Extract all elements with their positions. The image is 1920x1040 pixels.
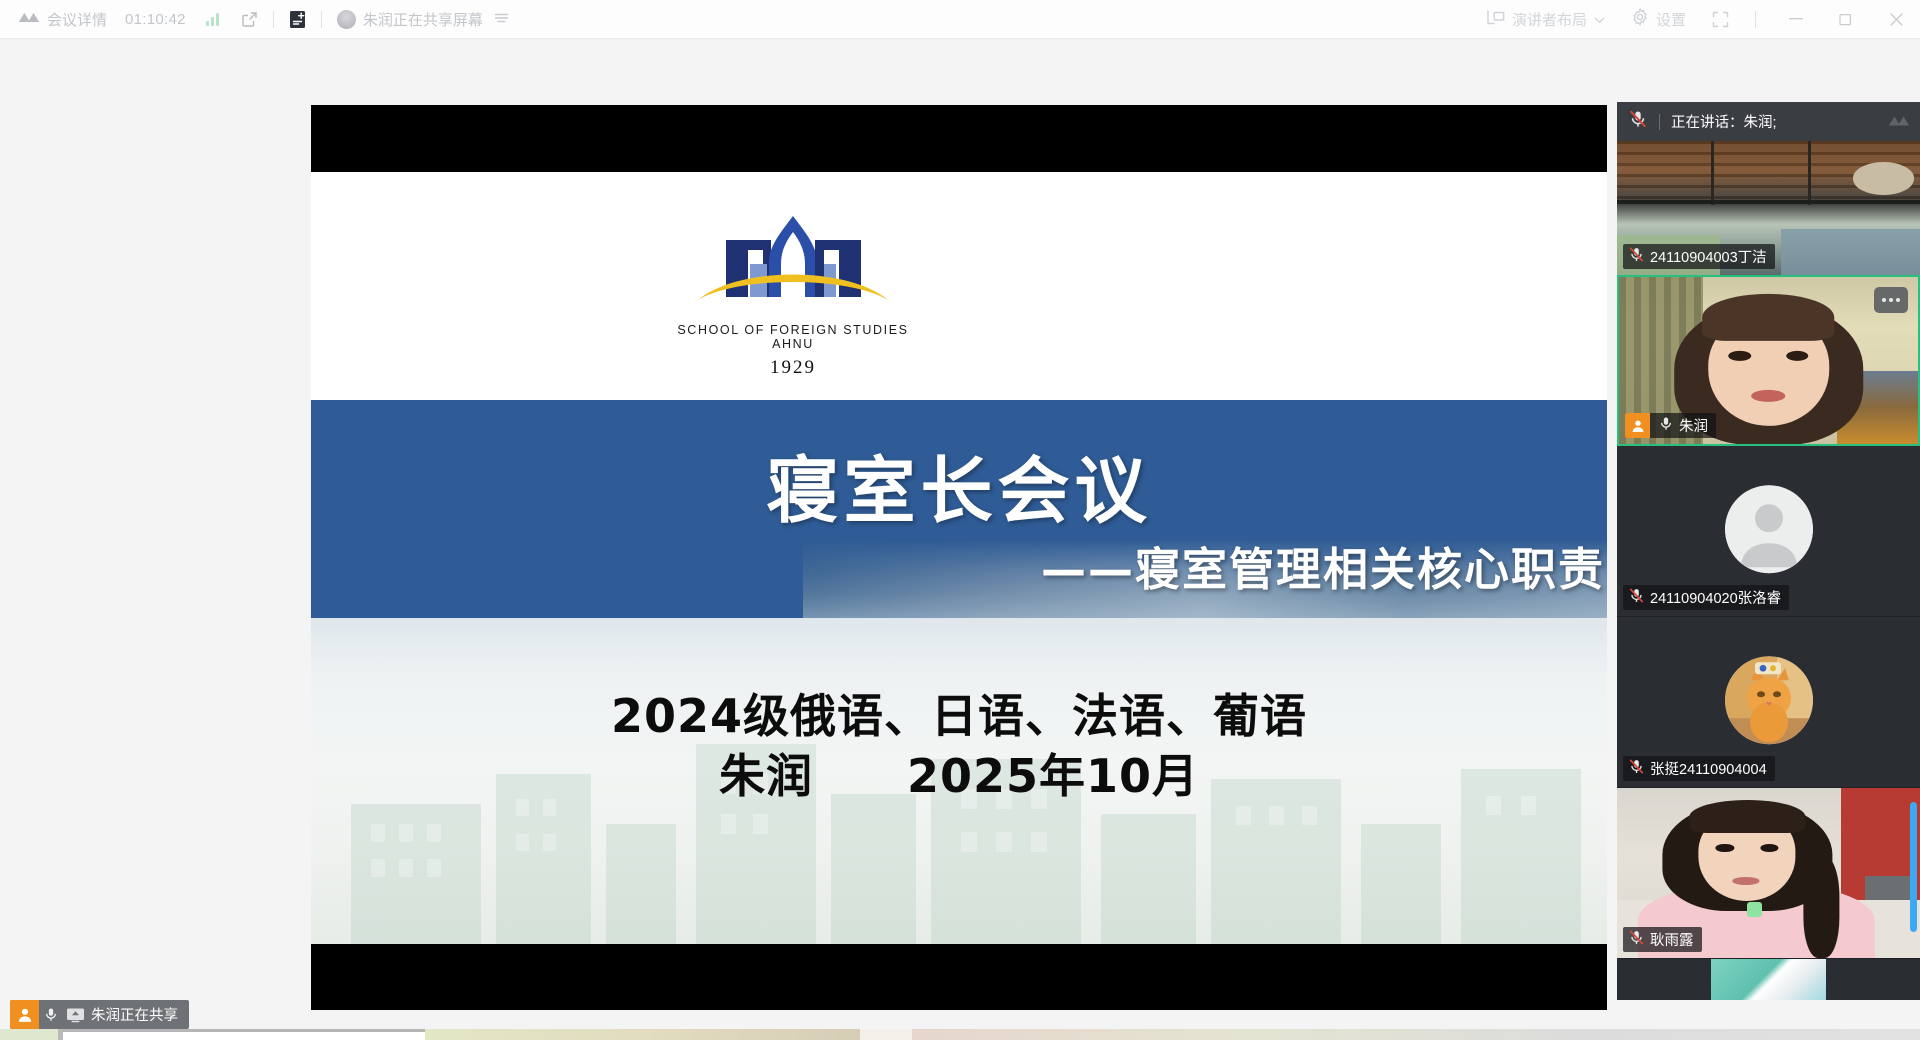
layout-selector[interactable]: 演讲者布局 <box>1487 9 1605 30</box>
settings-label: 设置 <box>1656 9 1686 30</box>
participant-namebar: 张挺24110904004 <box>1623 756 1775 781</box>
shared-slide[interactable]: SCHOOL OF FOREIGN STUDIES AHNU 1929 寝室长会… <box>311 105 1607 1010</box>
maximize-button[interactable] <box>1836 9 1856 29</box>
slide-line-1: 2024级俄语、日语、法语、葡语 <box>311 680 1607 746</box>
divider <box>273 11 274 28</box>
default-avatar <box>1725 485 1813 573</box>
slide-title: 寝室长会议 <box>311 432 1607 537</box>
meeting-timer: 01:10:42 <box>125 11 186 28</box>
window-titlebar: 会议详情 01:10:42 朱润正在共享屏幕 <box>0 0 1920 39</box>
participant-tile-active[interactable]: 朱润 <box>1617 275 1920 446</box>
layout-label: 演讲者布局 <box>1512 9 1587 30</box>
host-badge-icon <box>10 1000 39 1029</box>
slide-line-2: 朱润 2025年10月 <box>311 740 1607 806</box>
ahnu-logo: SCHOOL OF FOREIGN STUDIES AHNU 1929 <box>668 202 918 379</box>
external-link-icon[interactable] <box>241 11 258 28</box>
active-speaker-bar: 正在讲话：朱润; <box>1617 102 1920 141</box>
participant-namebar: 朱润 <box>1625 413 1716 438</box>
screen-share-icon <box>63 1000 87 1029</box>
meeting-details-button[interactable]: 会议详情 <box>18 9 107 30</box>
mic-muted-icon <box>1628 929 1645 951</box>
gear-icon <box>1631 8 1649 30</box>
divider <box>321 11 322 28</box>
active-speaker-label: 正在讲话：朱润; <box>1671 111 1777 132</box>
photo-avatar <box>1725 656 1813 744</box>
participant-namebar: 24110904020张洛睿 <box>1623 585 1789 610</box>
participant-tile[interactable]: 张挺24110904004 <box>1617 617 1920 787</box>
taskbar-segment <box>63 1029 425 1040</box>
panel-scrollbar[interactable] <box>1910 802 1917 932</box>
logo-caption: SCHOOL OF FOREIGN STUDIES AHNU <box>668 323 918 351</box>
slide-title-band: 寝室长会议 ——寝室管理相关核心职责 <box>311 400 1607 618</box>
fullscreen-button[interactable] <box>1712 11 1729 28</box>
participant-tile[interactable]: 24110904003丁洁 <box>1617 141 1920 275</box>
mic-muted-icon <box>1628 758 1645 780</box>
host-badge-icon <box>1625 413 1650 438</box>
taskbar-segment <box>912 1029 1920 1040</box>
mic-muted-icon <box>1628 246 1645 268</box>
participant-namebar: 24110904003丁洁 <box>1623 244 1775 269</box>
list-menu-icon[interactable] <box>494 11 509 28</box>
mic-muted-icon <box>1628 587 1645 609</box>
taskbar-segment <box>0 1029 58 1040</box>
taskbar-segment <box>425 1029 860 1040</box>
settings-button[interactable]: 设置 <box>1631 8 1686 30</box>
more-options-icon[interactable] <box>1874 287 1908 313</box>
video-feed <box>1617 959 1920 1000</box>
minimize-button[interactable] <box>1786 9 1806 29</box>
meeting-details-label: 会议详情 <box>47 9 107 30</box>
participant-name: 24110904020张洛睿 <box>1650 587 1781 608</box>
letterbox-bottom <box>311 944 1607 1010</box>
participant-avatar <box>337 10 356 29</box>
notes-document-icon[interactable] <box>289 10 306 29</box>
person-placeholder-icon <box>1725 485 1813 573</box>
sharing-status: 朱润正在共享屏幕 <box>337 9 509 30</box>
participant-namebar: 耿雨露 <box>1623 927 1702 952</box>
cat-avatar-icon <box>1725 656 1813 744</box>
os-taskbar <box>0 1029 1920 1040</box>
close-button[interactable] <box>1886 9 1906 29</box>
layout-icon <box>1487 9 1505 29</box>
mountain-logo-icon <box>18 10 40 28</box>
participant-tile[interactable]: 24110904020张洛睿 <box>1617 446 1920 616</box>
mic-on-icon <box>1658 415 1674 437</box>
slide-logo-area: SCHOOL OF FOREIGN STUDIES AHNU 1929 <box>311 172 1607 400</box>
taskbar-segment <box>860 1029 912 1040</box>
sharing-indicator-label: 朱润正在共享 <box>87 1004 189 1025</box>
ahnu-crest-icon <box>693 202 893 320</box>
participant-name: 24110904003丁洁 <box>1650 246 1767 267</box>
sharing-indicator: 朱润正在共享 <box>10 1000 189 1029</box>
slide-content: SCHOOL OF FOREIGN STUDIES AHNU 1929 寝室长会… <box>311 172 1607 944</box>
chevron-down-icon <box>1594 11 1605 28</box>
participant-tile-partial[interactable] <box>1617 959 1920 1000</box>
divider <box>1755 11 1756 28</box>
letterbox-top <box>311 105 1607 172</box>
participant-panel: 正在讲话：朱润; 24110904003 <box>1617 102 1920 1000</box>
participant-name: 朱润 <box>1679 415 1708 436</box>
slide-subtitle: ——寝室管理相关核心职责 <box>1041 533 1605 598</box>
participant-name: 张挺24110904004 <box>1650 758 1767 779</box>
signal-bars-icon[interactable] <box>206 12 219 26</box>
slide-lower-area: 2024级俄语、日语、法语、葡语 朱润 2025年10月 <box>311 618 1607 944</box>
mic-on-icon <box>39 1000 63 1029</box>
sharing-status-label: 朱润正在共享屏幕 <box>363 9 483 30</box>
participant-name: 耿雨露 <box>1650 929 1694 950</box>
logo-year: 1929 <box>668 357 918 379</box>
mic-muted-icon <box>1628 109 1648 134</box>
participant-tile[interactable]: 耿雨露 <box>1617 788 1920 958</box>
mountain-logo-icon <box>1888 113 1910 128</box>
